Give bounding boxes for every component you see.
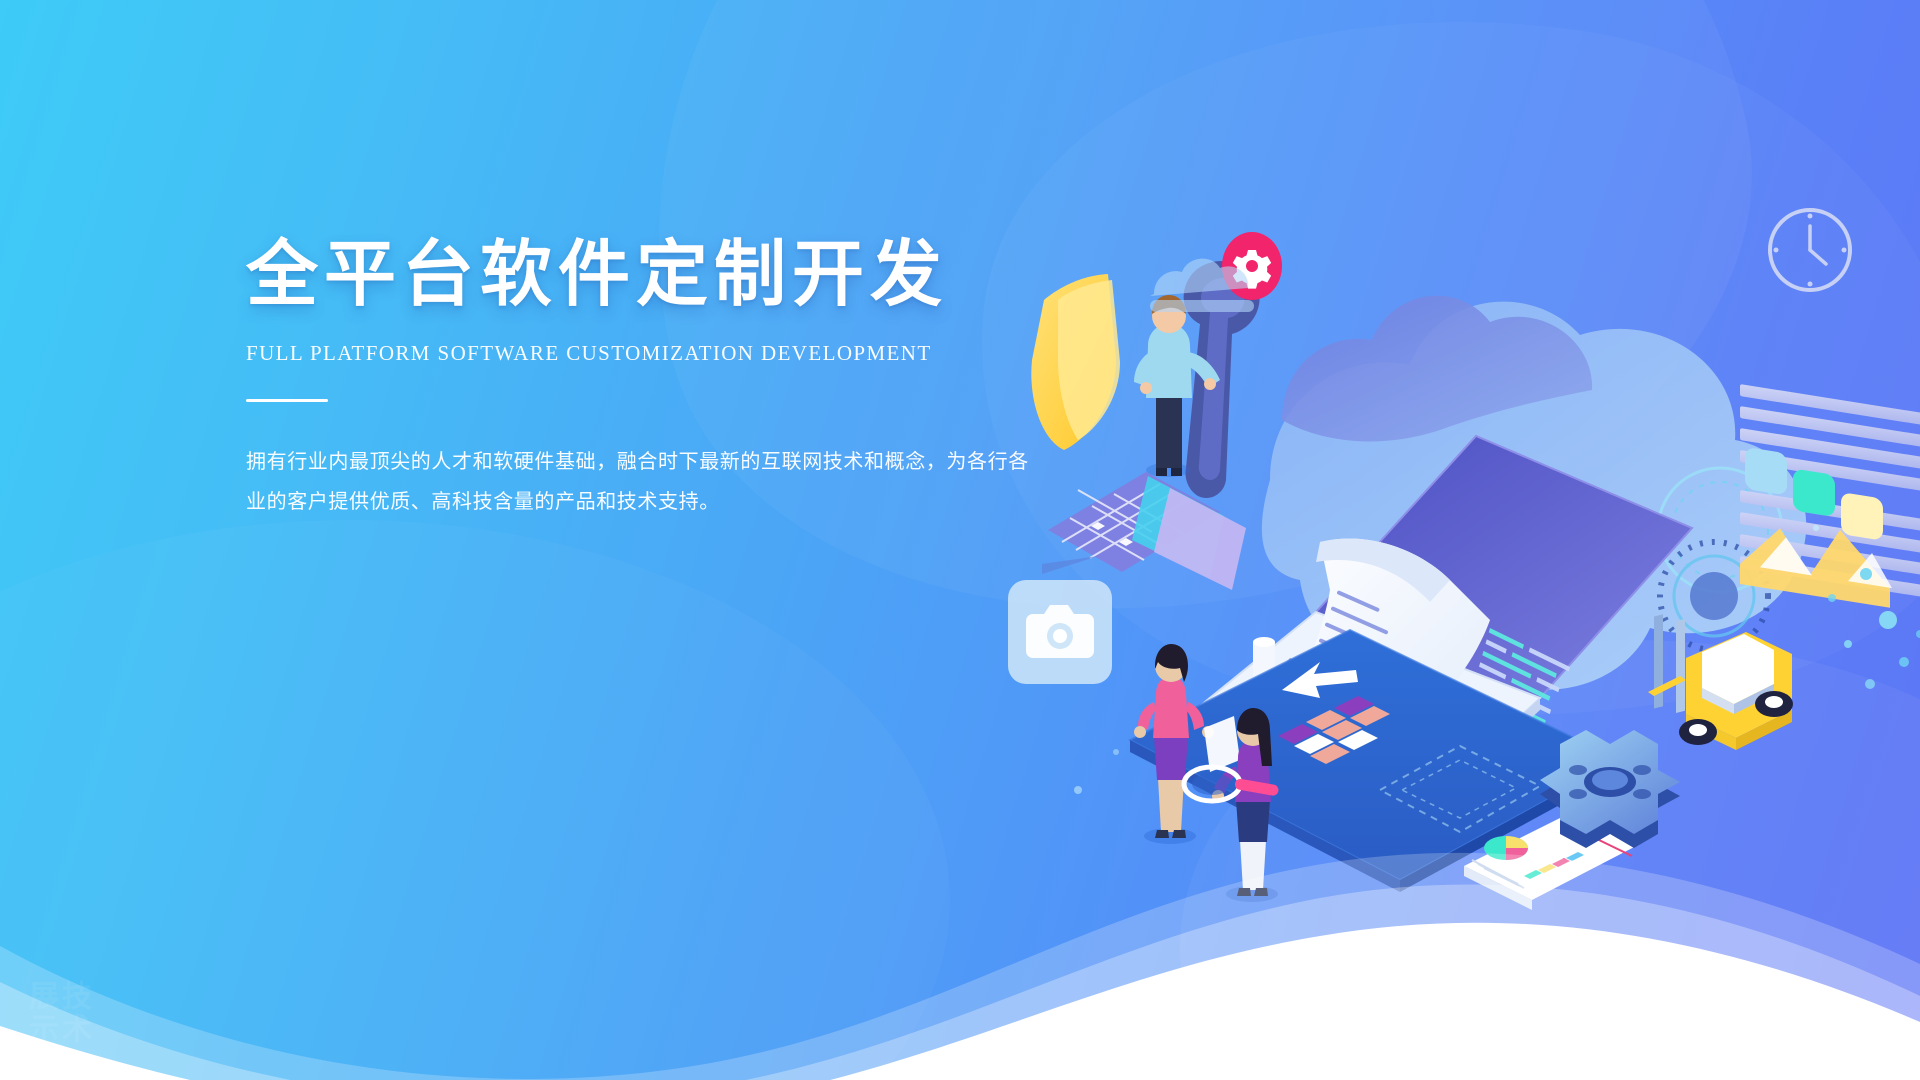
hero-banner: 技术 展示 xyxy=(0,0,1920,1080)
bottom-wave-decoration xyxy=(0,750,1920,1080)
wall-clock-icon xyxy=(1770,210,1850,290)
page-subtitle: FULL PLATFORM SOFTWARE CUSTOMIZATION DEV… xyxy=(246,341,1066,366)
hero-copy-block: 全平台软件定制开发 FULL PLATFORM SOFTWARE CUSTOMI… xyxy=(246,236,1066,522)
document-panel xyxy=(1740,210,1920,614)
page-title: 全平台软件定制开发 xyxy=(246,236,1066,315)
gear-badge-icon xyxy=(1222,232,1282,300)
hero-description: 拥有行业内最顶尖的人才和软硬件基础，融合时下最新的互联网技术和概念，为各行各业的… xyxy=(246,442,1036,522)
title-divider xyxy=(246,399,328,402)
camera-icon xyxy=(1008,556,1112,684)
